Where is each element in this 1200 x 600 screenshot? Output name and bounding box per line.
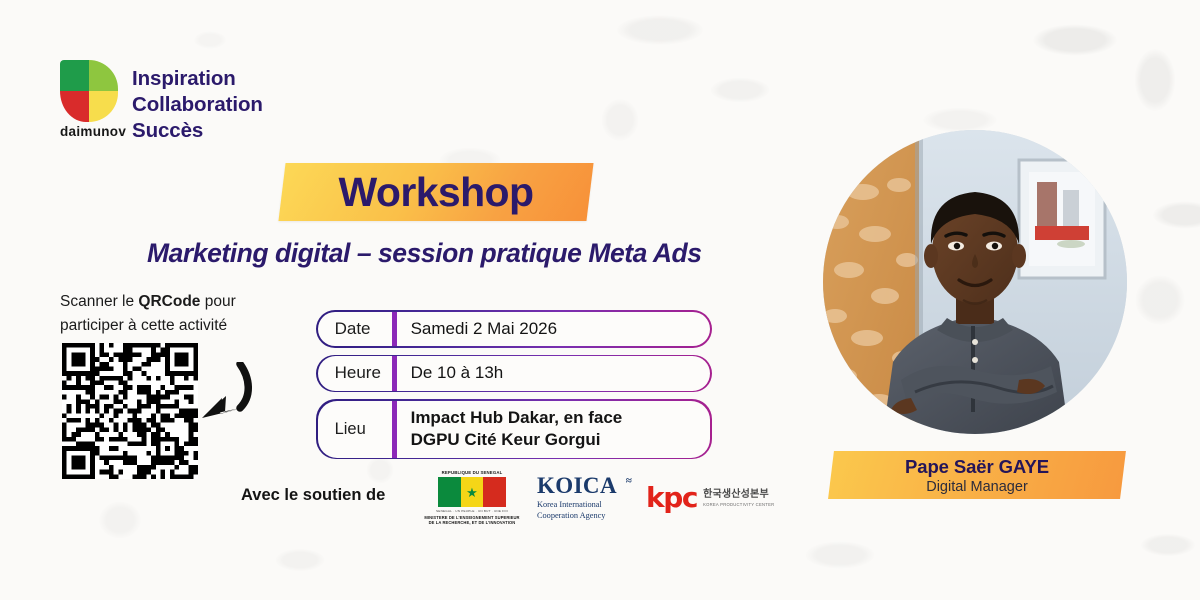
logo-quadrant-bottom-right [89,91,118,122]
tagline-line-2: Collaboration [132,92,263,118]
logo-quadrant-top-right [89,60,118,91]
brand-wordmark: daimunov [60,124,126,139]
koica-wordmark-text: KOICA [537,473,617,498]
logo-quadrant-bottom-left [60,91,89,122]
detail-value-date: Samedi 2 Mai 2026 [397,312,711,346]
senegal-flag-caption: SENEGAL · UN PEUPLE · UN BUT · UNE FOI [424,509,520,513]
qr-code[interactable] [62,343,198,465]
senegal-ministry-line2: DE LA RECHERCHE, ET DE L'INNOVATION [424,520,520,526]
curved-arrow-down-left-icon [196,362,258,426]
speaker-name: Pape Saër GAYE [905,456,1049,478]
senegal-ministry-text: MINISTERE DE L'ENSEIGNEMENT SUPERIEUR DE… [424,515,520,526]
sponsor-logo-senegal-ministry: REPUBLIQUE DU SENEGAL ★ SENEGAL · UN PEU… [424,470,520,526]
qr-instruction-prefix: Scanner le [60,293,138,310]
kpc-korean-text: 한국생산성본부 [703,489,774,502]
detail-value-lieu: Impact Hub Dakar, en face DGPU Cité Keur… [397,401,711,458]
sponsors-label: Avec le soutien de [241,486,385,505]
tagline-line-3: Succès [132,118,263,144]
koica-subtitle-line2: Cooperation Agency [537,511,629,522]
senegal-republic-text: REPUBLIQUE DU SENEGAL [424,470,520,475]
event-poster: daimunov Inspiration Collaboration Succè… [0,0,1200,600]
event-details-list: Date Samedi 2 Mai 2026 Heure De 10 à 13h… [316,310,712,466]
senegal-flag-icon: ★ [438,477,506,507]
event-subtitle: Marketing digital – session pratique Met… [147,238,747,269]
detail-label-lieu: Lieu [318,401,392,458]
detail-value-lieu-line1: Impact Hub Dakar, en face [411,407,701,429]
detail-row-lieu: Lieu Impact Hub Dakar, en face DGPU Cité… [316,399,712,459]
koica-subtitle-line1: Korea International [537,500,629,511]
detail-label-heure: Heure [318,356,392,390]
sponsor-logo-koica: KOICA ≈ Korea International Cooperation … [537,474,629,522]
senegal-star-icon: ★ [466,486,478,499]
qr-instruction-suffix: pour [200,293,235,310]
detail-row-date: Date Samedi 2 Mai 2026 [316,310,712,348]
koica-wordmark: KOICA ≈ [537,474,629,497]
koica-swoosh-icon: ≈ [626,476,632,487]
sponsor-logo-kpc: kpc 한국생산성본부 KOREA PRODUCTIVITY CENTER [646,484,774,512]
qr-instruction-text: Scanner le QRCode pour participer à cett… [60,290,275,338]
speaker-portrait-circle-icon [823,130,1127,434]
brand-lockup: daimunov Inspiration Collaboration Succè… [60,60,263,143]
detail-value-heure: De 10 à 13h [397,356,711,390]
logo-quadrant-top-left [60,60,89,91]
daimunov-d-mark-icon: daimunov [60,60,118,122]
qr-instruction-bold: QRCode [138,293,200,310]
speaker-nameplate: Pape Saër GAYE Digital Manager [831,451,1123,499]
koica-subtitle: Korea International Cooperation Agency [537,500,629,522]
tagline-line-1: Inspiration [132,66,263,92]
detail-value-lieu-line2: DGPU Cité Keur Gorgui [411,429,701,451]
kpc-wordmark: kpc [646,484,697,512]
brand-tagline: Inspiration Collaboration Succès [132,66,263,143]
qr-instruction-line2: participer à cette activité [60,317,227,334]
speaker-role: Digital Manager [926,479,1028,495]
detail-label-date: Date [318,312,392,346]
workshop-badge-label: Workshop [282,163,590,221]
kpc-text-block: 한국생산성본부 KOREA PRODUCTIVITY CENTER [703,489,774,508]
detail-row-heure: Heure De 10 à 13h [316,355,712,393]
sponsor-logo-row: REPUBLIQUE DU SENEGAL ★ SENEGAL · UN PEU… [424,470,774,526]
kpc-english-text: KOREA PRODUCTIVITY CENTER [703,502,774,507]
